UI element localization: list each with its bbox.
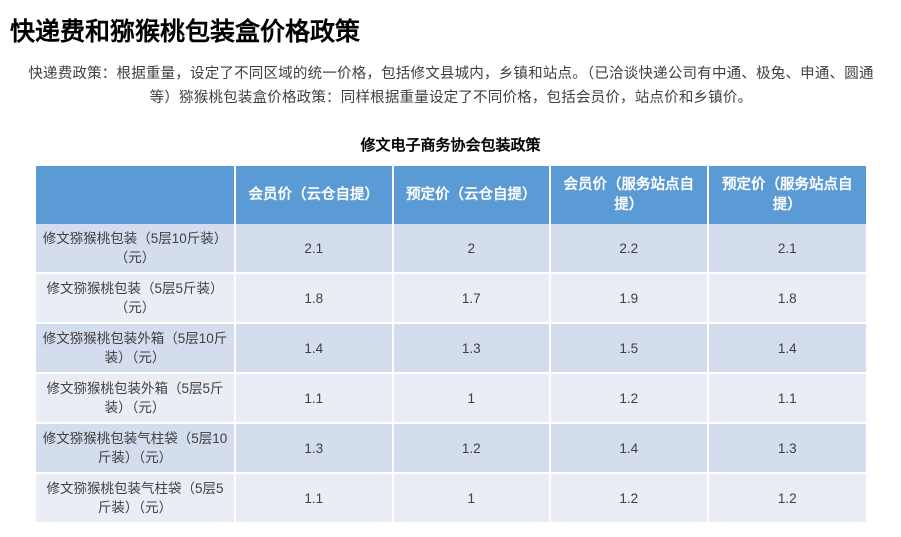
cell-value: 1.8 <box>709 274 867 324</box>
cell-value: 1.2 <box>551 374 709 424</box>
cell-value: 1.7 <box>394 274 552 324</box>
table-body: 修文猕猴桃包装（5层10斤装）（元） 2.1 2 2.2 2.1 修文猕猴桃包装… <box>36 224 866 524</box>
column-header-member-price-station: 会员价（服务站点自提） <box>551 166 709 224</box>
table-caption: 修文电子商务协会包装政策 <box>0 134 901 155</box>
column-header-reserved-price-cloud: 预定价（云仓自提） <box>394 166 552 224</box>
cell-value: 1.1 <box>709 374 867 424</box>
table-row: 修文猕猴桃包装外箱（5层5斤装）（元） 1.1 1 1.2 1.1 <box>36 374 866 424</box>
cell-value: 1.5 <box>551 324 709 374</box>
cell-value: 1.2 <box>394 424 552 474</box>
row-label: 修文猕猴桃包装外箱（5层10斤装）（元） <box>36 324 236 374</box>
row-label: 修文猕猴桃包装（5层5斤装）（元） <box>36 274 236 324</box>
column-header-member-price-cloud: 会员价（云仓自提） <box>236 166 394 224</box>
table-row: 修文猕猴桃包装气柱袋（5层10斤装）（元） 1.3 1.2 1.4 1.3 <box>36 424 866 474</box>
cell-value: 1.2 <box>551 474 709 524</box>
packaging-policy-table: 会员价（云仓自提） 预定价（云仓自提） 会员价（服务站点自提） 预定价（服务站点… <box>36 166 866 524</box>
page-title: 快递费和猕猴桃包装盒价格政策 <box>10 12 360 48</box>
cell-value: 2 <box>394 224 552 274</box>
row-label: 修文猕猴桃包装气柱袋（5层10斤装）（元） <box>36 424 236 474</box>
cell-value: 1.4 <box>236 324 394 374</box>
cell-value: 1.8 <box>236 274 394 324</box>
cell-value: 2.2 <box>551 224 709 274</box>
intro-paragraph: 快递费政策：根据重量，设定了不同区域的统一价格，包括修文县城内，乡镇和站点。（已… <box>22 62 880 110</box>
column-header-item <box>36 166 236 224</box>
table-row: 修文猕猴桃包装外箱（5层10斤装）（元） 1.4 1.3 1.5 1.4 <box>36 324 866 374</box>
row-label: 修文猕猴桃包装外箱（5层5斤装）（元） <box>36 374 236 424</box>
column-header-reserved-price-station: 预定价（服务站点自提） <box>709 166 867 224</box>
cell-value: 1.4 <box>709 324 867 374</box>
cell-value: 1 <box>394 474 552 524</box>
cell-value: 1 <box>394 374 552 424</box>
row-label: 修文猕猴桃包装气柱袋（5层5斤装）（元） <box>36 474 236 524</box>
cell-value: 1.2 <box>709 474 867 524</box>
cell-value: 1.3 <box>709 424 867 474</box>
table-row: 修文猕猴桃包装（5层5斤装）（元） 1.8 1.7 1.9 1.8 <box>36 274 866 324</box>
cell-value: 2.1 <box>709 224 867 274</box>
cell-value: 1.1 <box>236 374 394 424</box>
cell-value: 2.1 <box>236 224 394 274</box>
table-row: 修文猕猴桃包装气柱袋（5层5斤装）（元） 1.1 1 1.2 1.2 <box>36 474 866 524</box>
cell-value: 1.1 <box>236 474 394 524</box>
row-label: 修文猕猴桃包装（5层10斤装）（元） <box>36 224 236 274</box>
cell-value: 1.9 <box>551 274 709 324</box>
cell-value: 1.4 <box>551 424 709 474</box>
cell-value: 1.3 <box>394 324 552 374</box>
cell-value: 1.3 <box>236 424 394 474</box>
table-header: 会员价（云仓自提） 预定价（云仓自提） 会员价（服务站点自提） 预定价（服务站点… <box>36 166 866 224</box>
policy-table-container: 会员价（云仓自提） 预定价（云仓自提） 会员价（服务站点自提） 预定价（服务站点… <box>36 166 866 524</box>
table-header-row: 会员价（云仓自提） 预定价（云仓自提） 会员价（服务站点自提） 预定价（服务站点… <box>36 166 866 224</box>
table-row: 修文猕猴桃包装（5层10斤装）（元） 2.1 2 2.2 2.1 <box>36 224 866 274</box>
